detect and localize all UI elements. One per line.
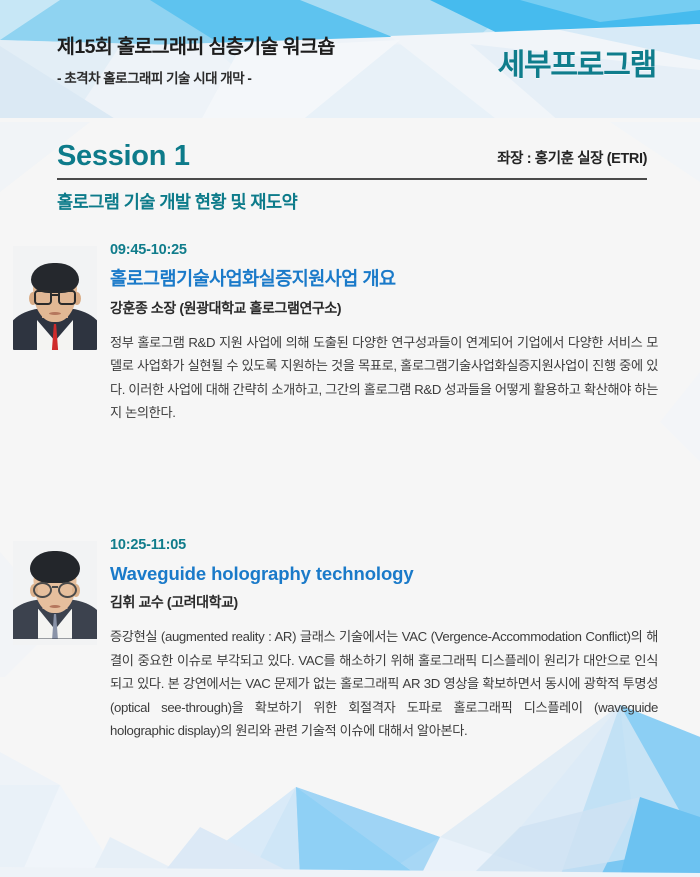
page-header: 제15회 홀로그래피 심층기술 워크숍 - 초격차 홀로그래피 기술 시대 개막… <box>0 0 700 122</box>
talk-item: 10:25-11:05 Waveguide holography technol… <box>0 533 700 743</box>
talk-item: 09:45-10:25 홀로그램기술사업화실증지원사업 개요 강훈종 소장 (원… <box>0 238 700 425</box>
talk-title: Waveguide holography technology <box>110 562 658 585</box>
talk-title: 홀로그램기술사업화실증지원사업 개요 <box>110 267 658 290</box>
session-subtitle: 홀로그램 기술 개발 현황 및 재도약 <box>57 189 647 214</box>
program-page: 제15회 홀로그래피 심층기술 워크숍 - 초격차 홀로그래피 기술 시대 개막… <box>0 0 700 877</box>
speaker-photo-1 <box>13 246 97 350</box>
session-divider <box>57 178 647 180</box>
talk-abstract: 증강현실 (augmented reality : AR) 글래스 기술에서는 … <box>110 625 658 743</box>
speaker-photo-cell <box>0 238 110 350</box>
program-badge: 세부프로그램 <box>498 40 656 84</box>
speaker-photo-2 <box>13 541 97 645</box>
talk-content: 10:25-11:05 Waveguide holography technol… <box>110 533 700 743</box>
header-title-block: 제15회 홀로그래피 심층기술 워크숍 - 초격차 홀로그래피 기술 시대 개막… <box>57 36 335 87</box>
talk-abstract: 정부 홀로그램 R&D 지원 사업에 의해 도출된 다양한 연구성과들이 연계되… <box>110 331 658 425</box>
talk-time: 10:25-11:05 <box>110 537 658 554</box>
talk-speaker: 강훈종 소장 (원광대학교 홀로그램연구소) <box>110 298 658 318</box>
talk-speaker: 김휘 교수 (고려대학교) <box>110 592 658 612</box>
speaker-photo-cell <box>0 533 110 645</box>
workshop-title: 제15회 홀로그래피 심층기술 워크숍 <box>57 36 335 58</box>
talk-time: 09:45-10:25 <box>110 242 658 259</box>
session-chair: 좌장 : 홍기훈 실장 (ETRI) <box>497 147 647 171</box>
workshop-subtitle: - 초격차 홀로그래피 기술 시대 개막 - <box>57 67 335 87</box>
talk-content: 09:45-10:25 홀로그램기술사업화실증지원사업 개요 강훈종 소장 (원… <box>110 238 700 425</box>
talk-list: 09:45-10:25 홀로그램기술사업화실증지원사업 개요 강훈종 소장 (원… <box>0 238 700 743</box>
session-title-row: Session 1 좌장 : 홍기훈 실장 (ETRI) <box>57 142 647 176</box>
session-title: Session 1 <box>57 142 190 171</box>
session-header: Session 1 좌장 : 홍기훈 실장 (ETRI) 홀로그램 기술 개발 … <box>57 142 647 214</box>
